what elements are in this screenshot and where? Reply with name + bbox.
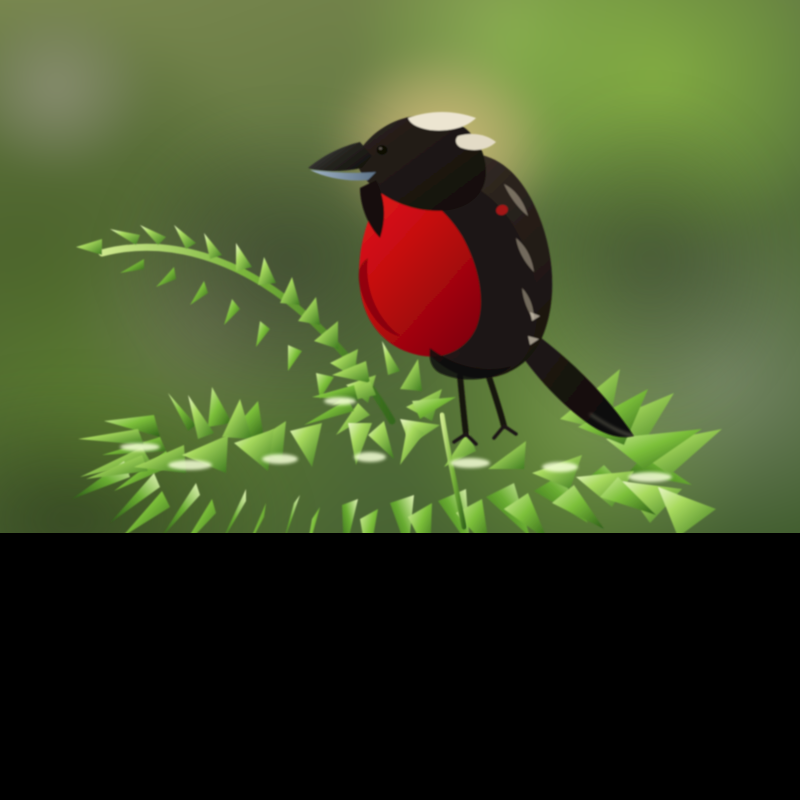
bird-red-breasted-meadowlark [290, 88, 660, 458]
caption-bar: CLUB DE OBSERVADORES DE AVES DE LA RESER… [0, 533, 800, 800]
screenshot-root: CLUB DE OBSERVADORES DE AVES DE LA RESER… [0, 0, 800, 800]
wildlife-photograph [0, 0, 800, 533]
